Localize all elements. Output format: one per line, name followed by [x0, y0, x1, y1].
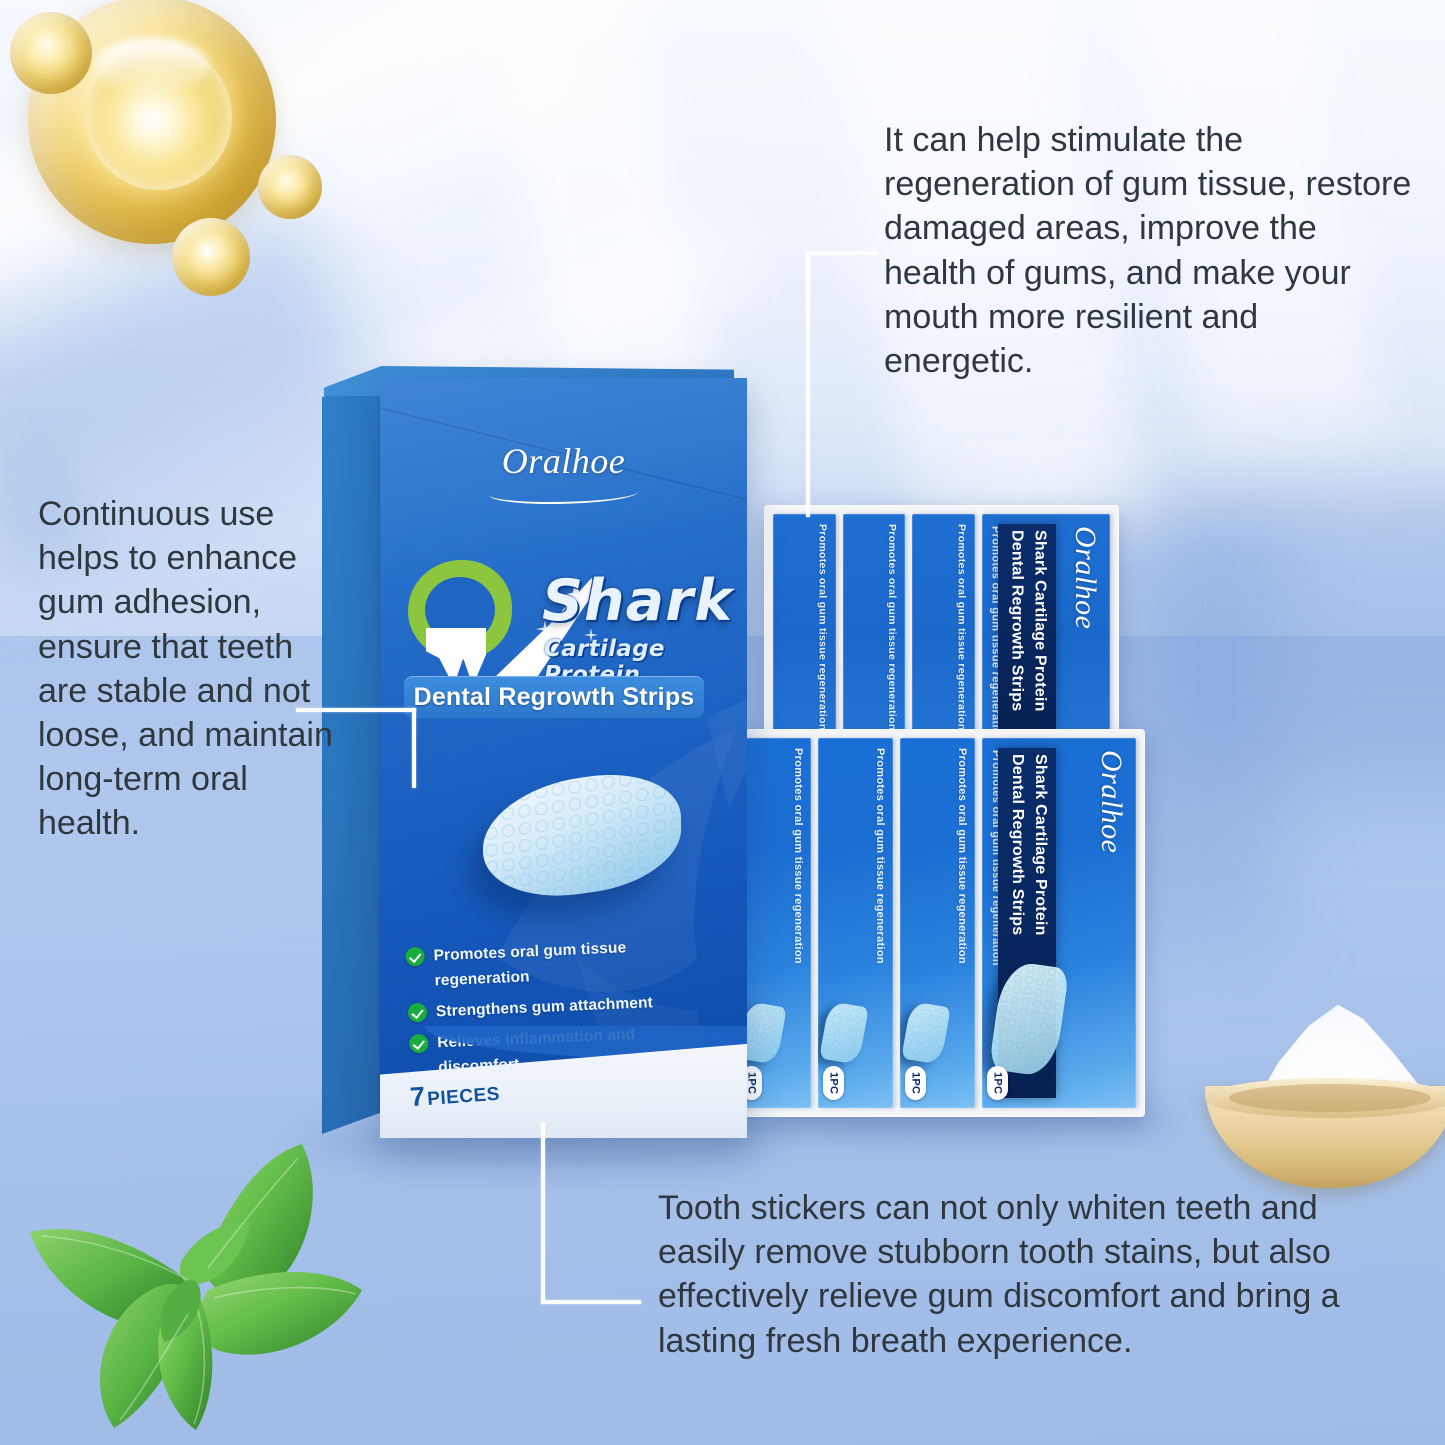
list-item: Promotes oral gum tissue regeneration — [405, 932, 717, 995]
sachet-tray-front: Promotes oral gum tissue regeneration 1P… — [727, 729, 1145, 1117]
sachet-title-line-1: Shark Cartilage Protein — [1032, 530, 1049, 712]
piece-badge-label: 1PC — [910, 1072, 922, 1094]
callout-line-bottom — [541, 1300, 641, 1304]
oil-droplet-small-icon — [172, 218, 250, 296]
product-box[interactable]: Oralhoe Shark Cartilage Protein Dental R… — [322, 360, 752, 1150]
sachet-title-lines: Shark Cartilage Protein Dental Regrowth … — [998, 524, 1056, 729]
sachet-title-band: Shark Cartilage Protein Dental Regrowth … — [998, 524, 1056, 729]
sachet-title-line-1: Shark Cartilage Protein — [1032, 754, 1049, 936]
sachet-brand: Oralhoe — [1094, 750, 1128, 854]
sachet-tray-back: Promotes oral gum tissue regeneration Pr… — [764, 505, 1119, 748]
sachet-brand: Oralhoe — [1068, 526, 1102, 630]
callout-line-top — [806, 251, 810, 517]
wooden-bowl-group — [1205, 1000, 1445, 1215]
sachet-side-text: Promotes oral gum tissue regeneration — [874, 748, 886, 964]
bowl-inner — [1229, 1084, 1431, 1112]
box-brand: Oralhoe — [380, 440, 747, 482]
wall-shadow — [1140, 470, 1445, 790]
box-front-panel: Oralhoe Shark Cartilage Protein Dental R… — [380, 378, 747, 1138]
sachet-title-line-2: Dental Regrowth Strips — [1009, 530, 1026, 711]
piece-badge: 1PC — [823, 1066, 844, 1100]
piece-count: 7 PIECES — [409, 1076, 501, 1113]
check-icon — [409, 1034, 429, 1054]
mint-leaves-icon — [22, 1138, 362, 1445]
sachet-side-text: Promotes oral gum tissue regeneration — [956, 524, 968, 731]
callout-text-top: It can help stimulate the regeneration o… — [884, 118, 1414, 383]
sachet-row-front: Promotes oral gum tissue regeneration 1P… — [736, 738, 1136, 1108]
piece-count-number: 7 — [409, 1081, 426, 1113]
piece-count-word: PIECES — [427, 1084, 501, 1111]
box-band: Dental Regrowth Strips — [404, 676, 704, 718]
brand-swoosh-icon — [489, 482, 639, 504]
callout-text-bottom: Tooth stickers can not only whiten teeth… — [658, 1186, 1388, 1363]
callout-line-left — [412, 708, 416, 788]
sachet-side-text: Promotes oral gum tissue regeneration — [956, 748, 968, 964]
sachet-title-line-2: Dental Regrowth Strips — [1009, 754, 1026, 935]
callout-line-bottom — [541, 1122, 545, 1304]
box-band-label: Dental Regrowth Strips — [414, 683, 695, 712]
sachet-row-back: Promotes oral gum tissue regeneration Pr… — [773, 514, 1110, 739]
product-infographic: Promotes oral gum tissue regeneration Pr… — [0, 0, 1445, 1445]
strip-preview — [819, 1001, 868, 1065]
piece-badge: 1PC — [905, 1066, 926, 1100]
sachet-side-text: Promotes oral gum tissue regeneration — [792, 748, 804, 964]
oil-droplet-core — [86, 44, 232, 190]
sachet[interactable]: Promotes oral gum tissue regeneration — [843, 514, 906, 739]
tooth-logo-icon — [408, 556, 560, 686]
oil-droplet-small-icon — [10, 12, 92, 94]
sachet[interactable]: Promotes oral gum tissue regeneration — [912, 514, 975, 739]
sachet-side-text: Promotes oral gum tissue regeneration — [817, 524, 829, 731]
box-title: Shark — [542, 568, 733, 634]
sachet-front-face[interactable]: Promotes oral gum tissue regeneration Sh… — [982, 738, 1136, 1108]
callout-line-top — [806, 251, 878, 255]
sachet[interactable]: Promotes oral gum tissue regeneration — [773, 514, 836, 739]
benefit-text: Strengthens gum attachment — [435, 990, 653, 1024]
check-icon — [408, 1003, 428, 1023]
sachet-front-face[interactable]: Promotes oral gum tissue regeneration Sh… — [982, 514, 1110, 739]
benefit-text: Promotes oral gum tissue regeneration — [433, 932, 717, 994]
mint-leaves-group — [22, 1138, 362, 1445]
check-icon — [405, 947, 425, 967]
sachet[interactable]: Promotes oral gum tissue regeneration 1P… — [818, 738, 893, 1108]
piece-badge: 1PC — [987, 1066, 1008, 1100]
sachet[interactable]: Promotes oral gum tissue regeneration 1P… — [900, 738, 975, 1108]
oil-droplet-small-icon — [258, 155, 322, 219]
piece-badge-label: 1PC — [828, 1072, 840, 1094]
sachet-side-text: Promotes oral gum tissue regeneration — [886, 524, 898, 731]
piece-badge-label: 1PC — [992, 1072, 1004, 1094]
callout-text-left: Continuous use helps to enhance gum adhe… — [38, 492, 338, 846]
strip-preview — [901, 1001, 950, 1065]
